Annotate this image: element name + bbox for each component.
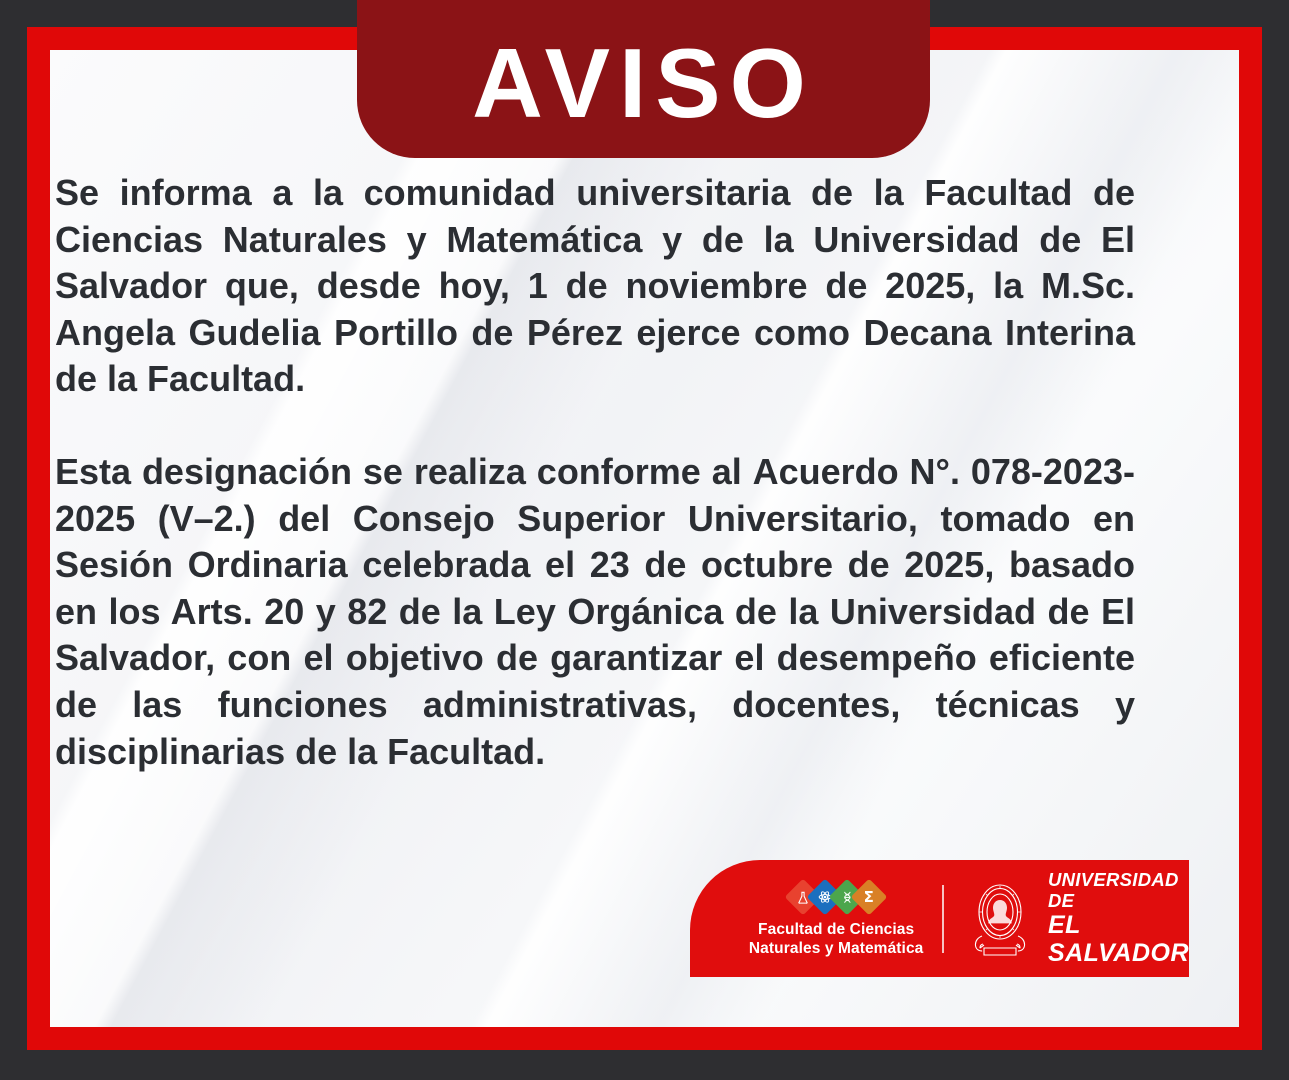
faculty-name: Facultad de Ciencias Naturales y Matemát… xyxy=(749,921,924,959)
university-name-line2: EL SALVADOR xyxy=(1048,911,1189,967)
banner-title: AVISO xyxy=(472,26,815,132)
body-text: Esta designación se realiza conforme al xyxy=(55,451,753,492)
emphasis-text: 1 de noviembre de 2025 xyxy=(528,265,966,306)
faculty-name-line1: Facultad de Ciencias xyxy=(758,921,914,938)
sigma-icon: Σ xyxy=(851,878,888,915)
aviso-poster: AVISO Se informa a la comunidad universi… xyxy=(0,0,1289,1080)
paragraph-2: Esta designación se realiza conforme al … xyxy=(55,449,1135,775)
emphasis-text: Decana Interina xyxy=(863,312,1135,353)
paragraph-1: Se informa a la comunidad universitaria … xyxy=(55,170,1135,403)
ues-seal-icon xyxy=(970,880,1030,958)
notice-body: Se informa a la comunidad universitaria … xyxy=(55,170,1135,775)
university-name: UNIVERSIDAD DE EL SALVADOR xyxy=(1048,870,1189,967)
university-name-line1: UNIVERSIDAD DE xyxy=(1048,870,1189,911)
body-text: de la Facultad. xyxy=(55,358,305,399)
faculty-diamond-icons: Σ xyxy=(792,879,880,915)
aviso-banner: AVISO xyxy=(357,0,930,158)
faculty-logo: Σ Facultad de Ciencias Naturales y Matem… xyxy=(748,879,924,959)
footer-divider xyxy=(942,885,944,953)
footer-branding-bar: Σ Facultad de Ciencias Naturales y Matem… xyxy=(690,860,1189,977)
university-logo: UNIVERSIDAD DE EL SALVADOR xyxy=(970,870,1189,967)
faculty-name-line2: Naturales y Matemática xyxy=(749,940,924,957)
